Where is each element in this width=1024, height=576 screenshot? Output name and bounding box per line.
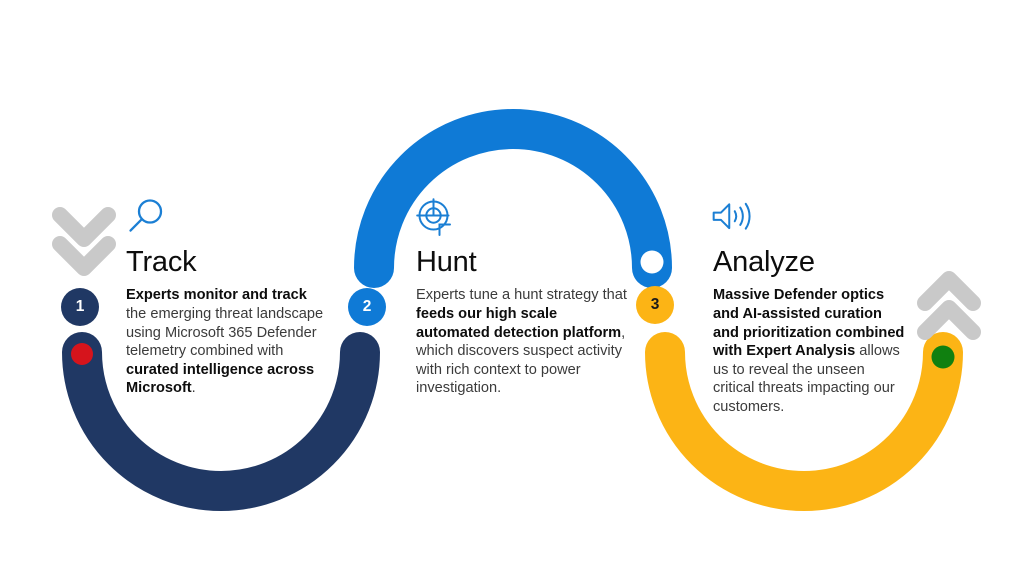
- step-title-hunt: Hunt: [416, 247, 628, 277]
- magnifying-glass-icon: [124, 196, 168, 240]
- crosshair-target-icon: [414, 196, 458, 240]
- step-body-analyze: Massive Defender optics and AI-assisted …: [713, 286, 909, 416]
- green-dot-marker: [932, 346, 955, 369]
- step-badge-3[interactable]: 3: [636, 286, 674, 324]
- diagram-canvas: 1 2 3 Track Experts monitor and track th…: [0, 0, 1024, 576]
- step-badge-2[interactable]: 2: [348, 288, 386, 326]
- step-body-hunt: Experts tune a hunt strategy that feeds …: [416, 286, 628, 398]
- step-title-analyze: Analyze: [713, 247, 909, 277]
- step-block-analyze: Analyze Massive Defender optics and AI-a…: [713, 247, 909, 417]
- speaker-sound-icon: [710, 197, 754, 241]
- step-body-track: Experts monitor and track the emerging t…: [126, 286, 324, 398]
- step-title-track: Track: [126, 247, 324, 277]
- white-dot-marker: [641, 251, 664, 274]
- step-badge-1[interactable]: 1: [61, 288, 99, 326]
- double-chevron-up-icon: [925, 279, 973, 332]
- red-dot-marker: [71, 343, 93, 365]
- double-chevron-down-icon: [60, 215, 108, 268]
- step-block-hunt: Hunt Experts tune a hunt strategy that f…: [416, 247, 628, 398]
- step-block-track: Track Experts monitor and track the emer…: [126, 247, 324, 398]
